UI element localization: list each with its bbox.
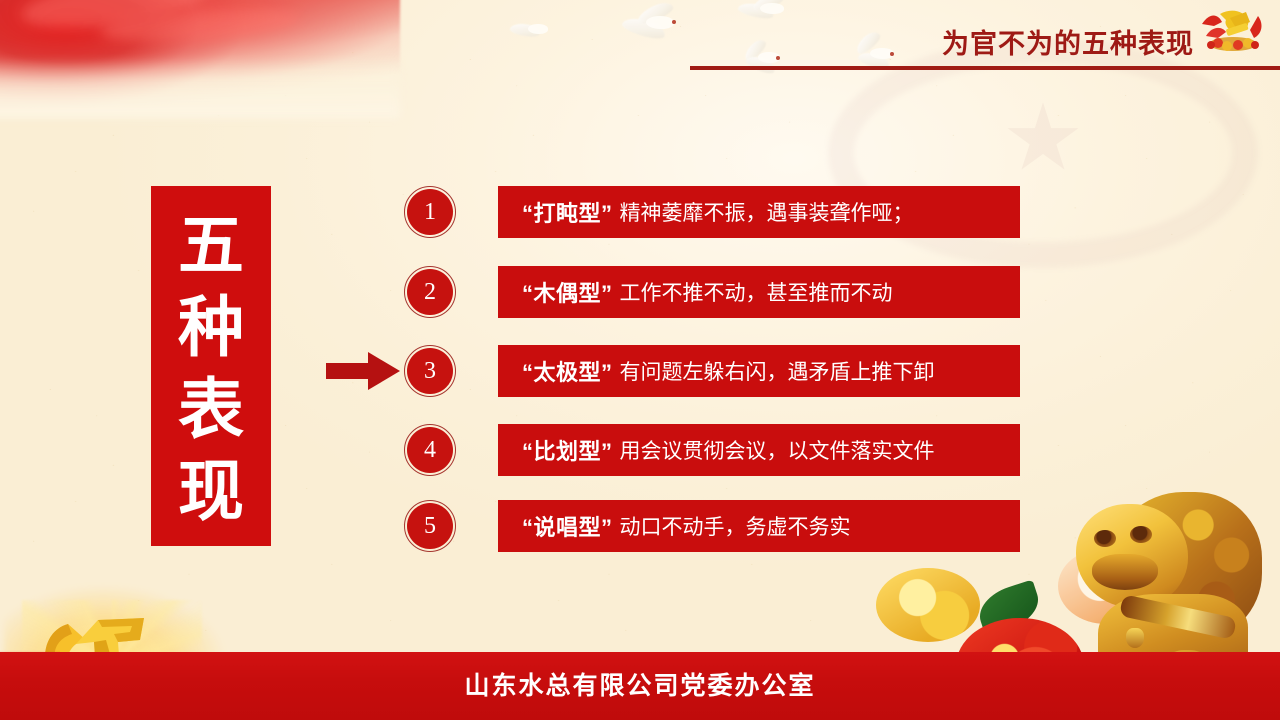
- dove-icon: [742, 42, 788, 76]
- dove-icon: [510, 18, 554, 44]
- item-desc: 工作不推不动，甚至推而不动: [620, 277, 893, 307]
- item-number-badge: 4: [404, 424, 456, 476]
- item-desc: 精神萎靡不振，遇事装聋作哑；: [620, 197, 914, 227]
- peony-flower-icon: [876, 568, 980, 642]
- heading-char: 种: [178, 288, 244, 366]
- item-bar: “太极型” 有问题左躲右闪，遇矛盾上推下卸: [498, 345, 1020, 397]
- heading-char: 表: [178, 370, 244, 448]
- item-number: 1: [404, 186, 456, 238]
- heading-char: 五: [178, 206, 244, 284]
- party-emblem-icon: [1196, 2, 1270, 54]
- item-number-badge: 3: [404, 345, 456, 397]
- item-number-badge: 5: [404, 500, 456, 552]
- item-number-badge: 1: [404, 186, 456, 238]
- heading-char: 现: [178, 452, 244, 530]
- item-number: 2: [404, 266, 456, 318]
- footer-organization: 山东水总有限公司党委办公室: [0, 666, 1280, 702]
- presentation-slide: 为官不为的五种表现 五 种 表 现: [0, 0, 1280, 720]
- item-kind: “太极型”: [522, 355, 613, 387]
- item-number: 5: [404, 500, 456, 552]
- flag-fade-edge: [0, 58, 400, 118]
- item-number: 3: [404, 345, 456, 397]
- item-bar: “木偶型” 工作不推不动，甚至推而不动: [498, 266, 1020, 318]
- item-kind: “说唱型”: [522, 510, 613, 542]
- dove-icon: [738, 0, 792, 24]
- item-desc: 用会议贯彻会议，以文件落实文件: [620, 435, 935, 465]
- item-desc: 有问题左躲右闪，遇矛盾上推下卸: [620, 356, 935, 386]
- slide-heading-block: 五 种 表 现: [151, 186, 271, 546]
- item-desc: 动口不动手，务虚不务实: [620, 511, 851, 541]
- item-kind: “比划型”: [522, 434, 613, 466]
- item-kind: “木偶型”: [522, 276, 613, 308]
- dove-icon: [620, 6, 684, 40]
- item-kind: “打盹型”: [522, 196, 613, 228]
- item-bar: “打盹型” 精神萎靡不振，遇事装聋作哑；: [498, 186, 1020, 238]
- header-underline: [690, 66, 1280, 70]
- item-number: 4: [404, 424, 456, 476]
- right-arrow-icon: [326, 352, 400, 390]
- page-title: 为官不为的五种表现: [942, 22, 1194, 61]
- item-number-badge: 2: [404, 266, 456, 318]
